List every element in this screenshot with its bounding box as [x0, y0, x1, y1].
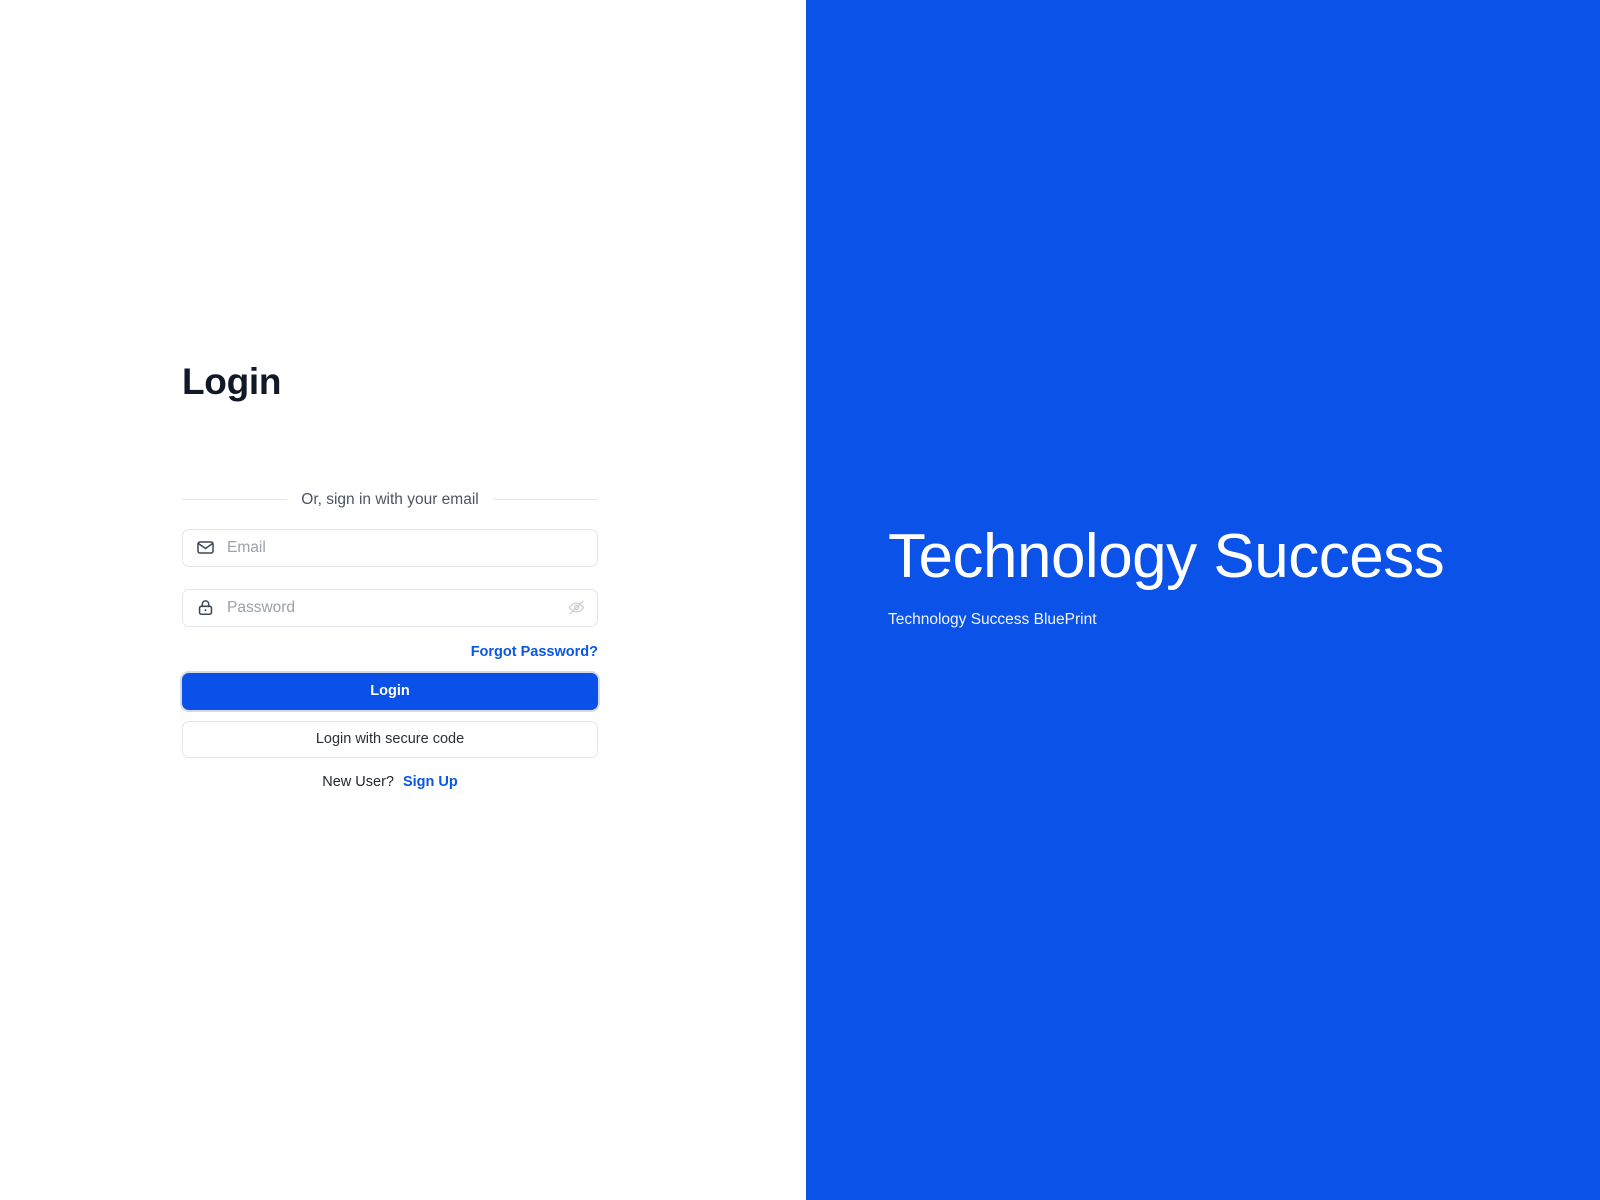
brand-block: Technology Success Technology Success Bl… [888, 524, 1548, 630]
envelope-icon [183, 538, 227, 557]
forgot-password-row: Forgot Password? [182, 643, 598, 661]
divider-line-left [182, 499, 287, 500]
eye-off-icon[interactable] [555, 599, 597, 616]
lock-icon [183, 598, 227, 617]
page-title: Login [182, 362, 598, 403]
login-with-secure-code-button[interactable]: Login with secure code [182, 721, 598, 758]
divider: Or, sign in with your email [182, 491, 598, 509]
divider-label: Or, sign in with your email [287, 491, 492, 509]
login-form: Login Or, sign in with your email Email [182, 362, 598, 790]
signup-prompt-label: New User? [322, 774, 394, 790]
password-field[interactable]: Password [182, 589, 598, 627]
signup-row: New User? Sign Up [182, 774, 598, 790]
password-input-placeholder[interactable]: Password [227, 600, 555, 616]
forgot-password-link[interactable]: Forgot Password? [471, 644, 598, 660]
email-input-placeholder[interactable]: Email [227, 540, 597, 556]
login-panel: Login Or, sign in with your email Email [0, 0, 806, 1200]
divider-line-right [493, 499, 598, 500]
email-field[interactable]: Email [182, 529, 598, 567]
login-button[interactable]: Login [182, 673, 598, 710]
brand-subtitle: Technology Success BluePrint [888, 611, 1548, 630]
brand-panel: Technology Success Technology Success Bl… [806, 0, 1600, 1200]
sign-up-link[interactable]: Sign Up [403, 774, 458, 790]
login-page: Login Or, sign in with your email Email [0, 0, 1600, 1200]
brand-title: Technology Success [888, 524, 1548, 589]
